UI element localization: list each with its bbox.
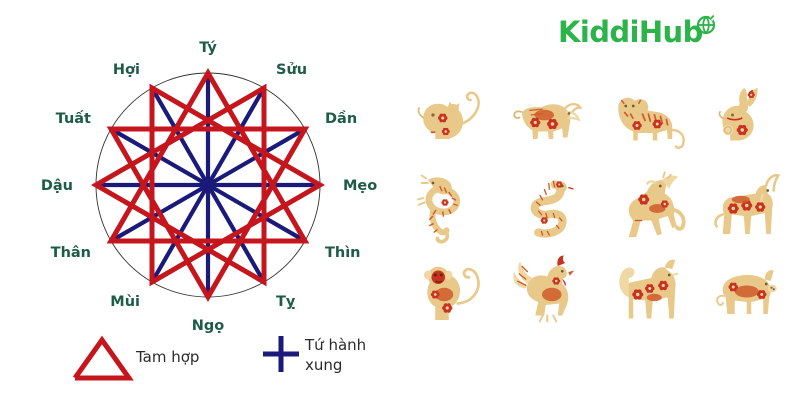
zodiac-label-mùi: Mùi bbox=[110, 294, 140, 310]
dog-icon bbox=[601, 251, 697, 329]
snake-icon bbox=[503, 168, 599, 246]
zodiac-label-dậu: Dậu bbox=[41, 178, 73, 194]
zodiac-animal-rabbit bbox=[698, 82, 796, 165]
zodiac-label-tỵ: Tỵ bbox=[276, 294, 296, 310]
legend-opposition-label-line2: xung bbox=[305, 356, 342, 374]
wheel-svg: TýSửuDầnMẹoThìnTỵNgọMùiThânDậuTuấtHợi Ta… bbox=[0, 0, 400, 420]
zodiac-label-thân: Thân bbox=[51, 245, 91, 261]
horse-icon bbox=[601, 168, 697, 246]
zodiac-label-tuất: Tuất bbox=[56, 110, 91, 127]
monkey-icon bbox=[406, 251, 502, 329]
zodiac-label-thìn: Thìn bbox=[325, 245, 361, 261]
legend-opposition-label-line1: Tứ hành bbox=[304, 336, 366, 354]
zodiac-label-sửu: Sửu bbox=[276, 62, 307, 78]
kiddihub-logo[interactable]: KiddiHub bbox=[558, 18, 716, 47]
triangle-icon bbox=[75, 340, 129, 378]
zodiac-animal-pig bbox=[698, 249, 796, 332]
zodiac-animal-rat bbox=[405, 82, 503, 165]
zodiac-animal-rooster bbox=[503, 249, 601, 332]
zodiac-animal-horse bbox=[600, 165, 698, 248]
globe-icon bbox=[696, 15, 716, 39]
zodiac-animal-tiger bbox=[600, 82, 698, 165]
pig-icon bbox=[698, 251, 794, 329]
legend-trine-label: Tam hợp bbox=[135, 348, 199, 366]
zodiac-label-hợi: Hợi bbox=[113, 62, 140, 78]
rooster-icon bbox=[503, 251, 599, 329]
zodiac-compatibility-wheel: TýSửuDầnMẹoThìnTỵNgọMùiThânDậuTuấtHợi Ta… bbox=[0, 0, 400, 420]
logo-wordmark: KiddiHub bbox=[558, 18, 703, 47]
zodiac-animal-ox bbox=[503, 82, 601, 165]
ox-icon bbox=[503, 85, 599, 163]
rabbit-icon bbox=[698, 85, 794, 163]
zodiac-animal-goat bbox=[698, 165, 796, 248]
tiger-icon bbox=[601, 85, 697, 163]
zodiac-infographic: TýSửuDầnMẹoThìnTỵNgọMùiThânDậuTuấtHợi Ta… bbox=[0, 0, 800, 420]
zodiac-label-tý: Tý bbox=[199, 40, 217, 56]
rat-icon bbox=[406, 85, 502, 163]
goat-icon bbox=[698, 168, 794, 246]
zodiac-animal-dragon bbox=[405, 165, 503, 248]
zodiac-animal-monkey bbox=[405, 249, 503, 332]
zodiac-label-ngọ: Ngọ bbox=[192, 318, 225, 334]
zodiac-animal-grid bbox=[405, 82, 795, 332]
zodiac-label-mẹo: Mẹo bbox=[343, 178, 377, 194]
zodiac-animal-dog bbox=[600, 249, 698, 332]
dragon-icon bbox=[406, 168, 502, 246]
wheel-legend: Tam hợp Tứ hành xung bbox=[75, 336, 366, 378]
zodiac-animal-snake bbox=[503, 165, 601, 248]
zodiac-label-dần: Dần bbox=[325, 110, 357, 127]
